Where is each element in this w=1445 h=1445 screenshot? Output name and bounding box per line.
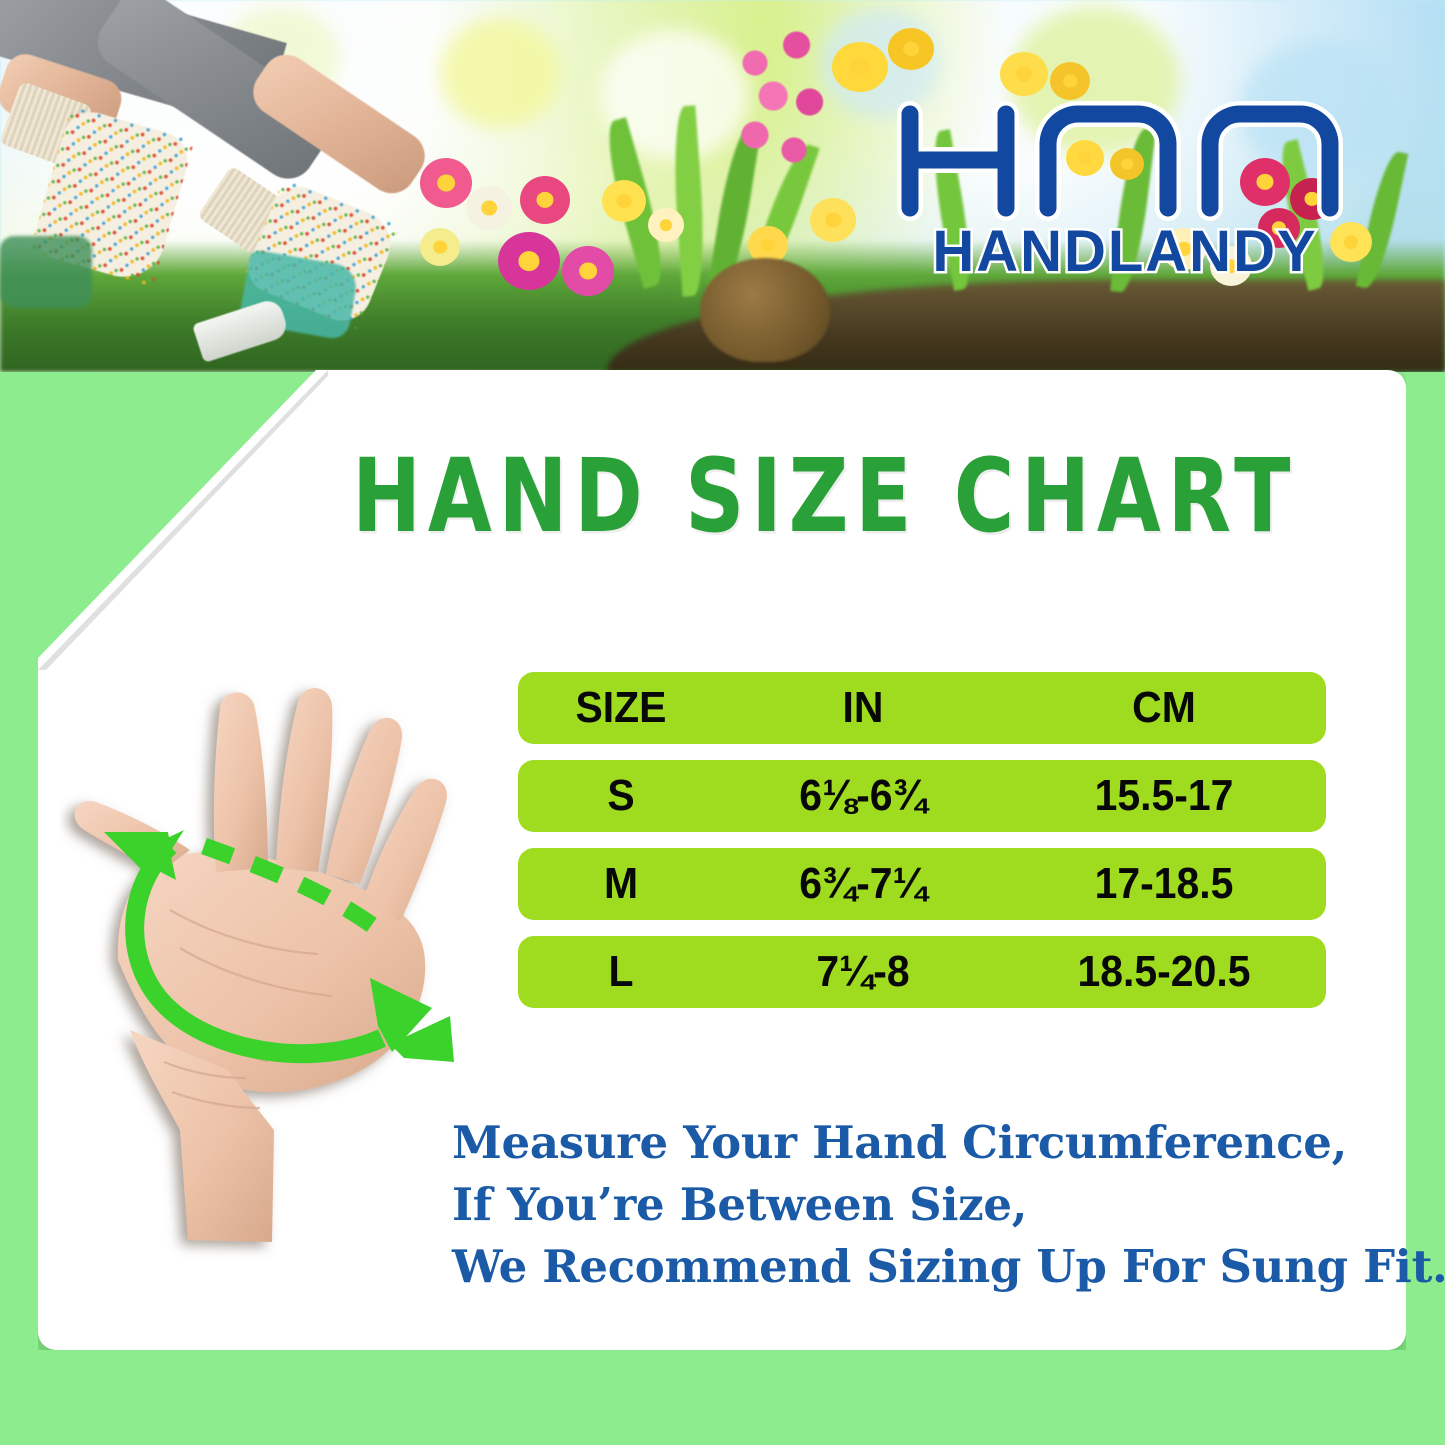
flower (562, 246, 614, 296)
cell-size: M (525, 859, 717, 909)
hand-circumference-diagram (60, 660, 460, 1260)
hyacinth-flower (716, 18, 846, 168)
flower (498, 232, 560, 290)
logo-wordmark: HANDLANDY (880, 218, 1370, 285)
foliage (0, 236, 92, 308)
bokeh-blob (440, 18, 560, 128)
hand-silhouette (75, 688, 447, 1242)
table-header-row: SIZE IN CM (518, 672, 1326, 744)
cell-cm: 15.5-17 (1013, 771, 1314, 821)
flower (602, 180, 646, 222)
daffodil (1000, 52, 1048, 96)
cell-in: 6¾-7¼ (734, 859, 993, 909)
table-row: S 6⅛-6¾ 15.5-17 (518, 760, 1326, 832)
logo-monogram-icon (880, 96, 1370, 226)
flower (520, 176, 570, 224)
daffodil (832, 42, 888, 92)
cell-in: 7¼-8 (734, 947, 993, 997)
flower (466, 186, 512, 230)
flower (648, 208, 684, 242)
size-table: SIZE IN CM S 6⅛-6¾ 15.5-17 M 6¾-7¼ 17-18… (518, 672, 1326, 1024)
note-line-1: Measure Your Hand Circumference, (452, 1112, 1352, 1174)
cell-size: L (525, 947, 717, 997)
header-in: IN (734, 683, 993, 733)
note-line-3: We Recommend Sizing Up For Sung Fit. (452, 1236, 1352, 1298)
root-ball (700, 258, 830, 362)
flower (420, 158, 472, 208)
daffodil (888, 28, 934, 70)
flower (810, 198, 856, 242)
table-row: M 6¾-7¼ 17-18.5 (518, 848, 1326, 920)
header-size: SIZE (525, 683, 717, 733)
flower (420, 228, 460, 266)
sizing-note: Measure Your Hand Circumference, If You’… (452, 1112, 1352, 1298)
cell-cm: 17-18.5 (1013, 859, 1314, 909)
brand-logo: HANDLANDY (880, 96, 1370, 286)
daffodil (1050, 62, 1090, 100)
cell-in: 6⅛-6¾ (734, 771, 993, 821)
cell-size: S (525, 771, 717, 821)
cell-cm: 18.5-20.5 (1013, 947, 1314, 997)
header-cm: CM (1013, 683, 1314, 733)
table-row: L 7¼-8 18.5-20.5 (518, 936, 1326, 1008)
page-title: HAND SIZE CHART (352, 438, 1322, 556)
note-line-2: If You’re Between Size, (452, 1174, 1352, 1236)
